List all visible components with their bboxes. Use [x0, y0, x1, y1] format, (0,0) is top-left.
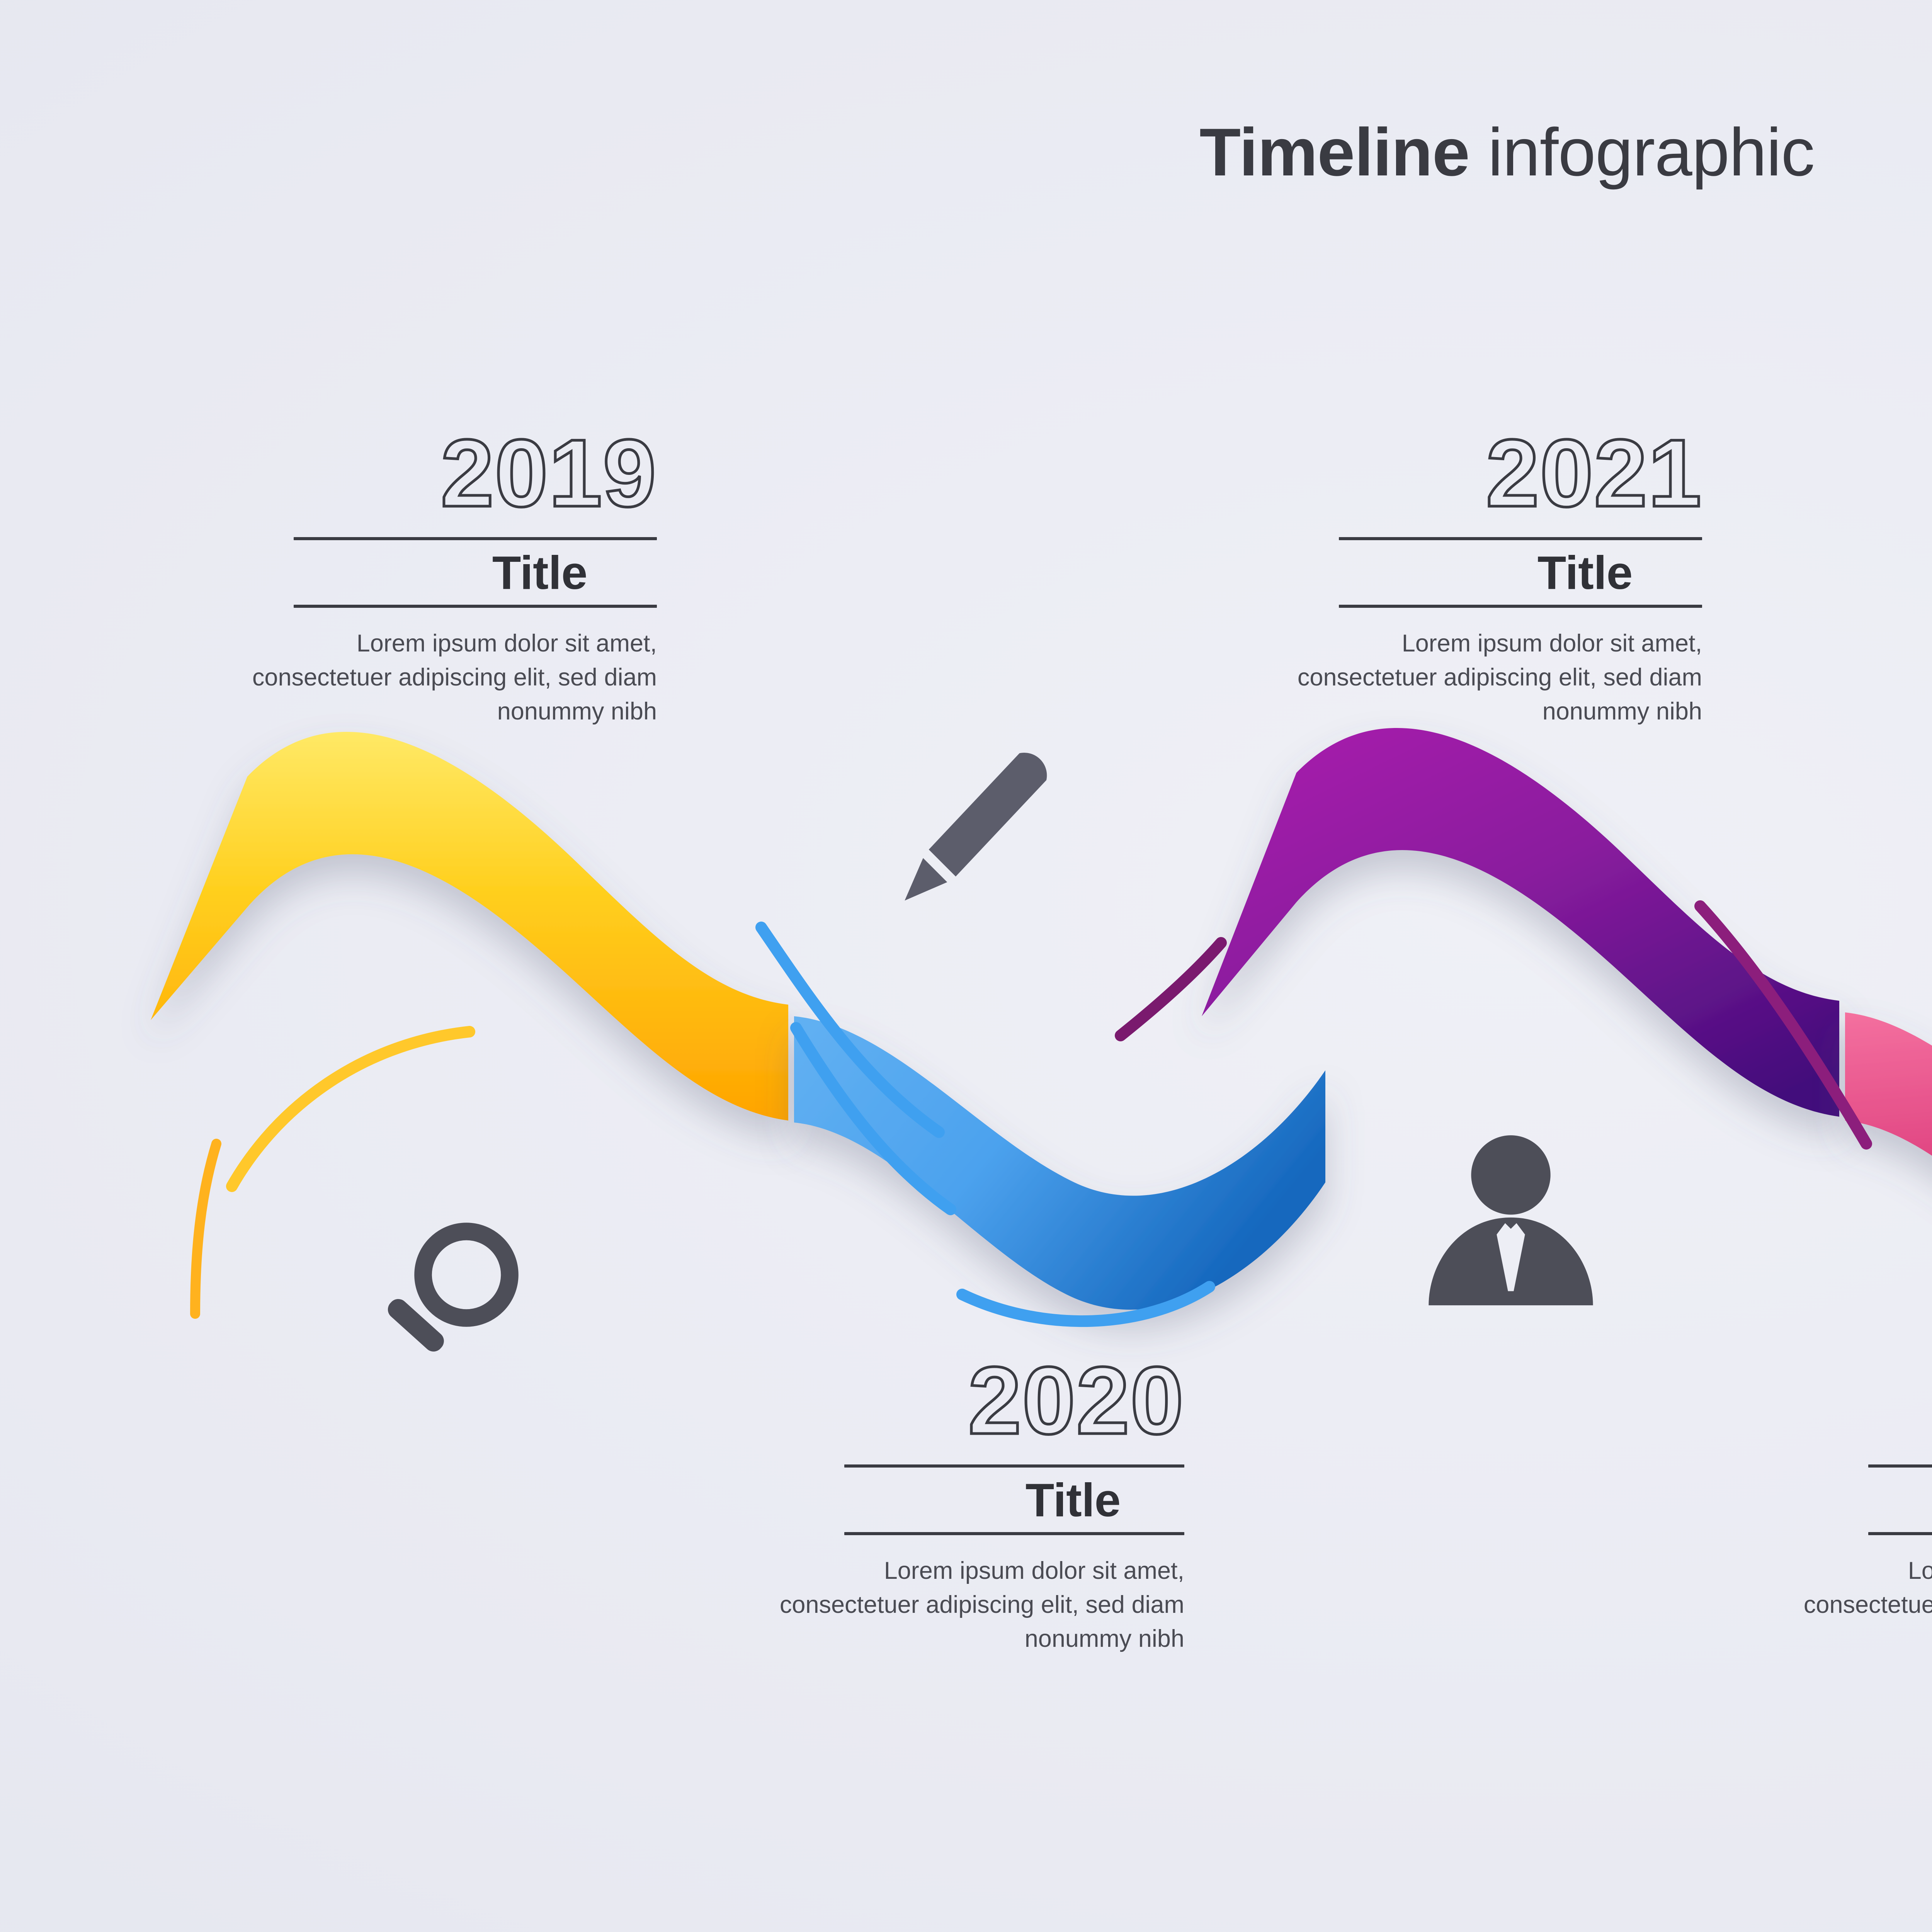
milestone-title-2020: Title — [775, 1471, 1184, 1529]
businessman-icon — [1426, 1132, 1596, 1310]
milestone-block-2021[interactable]: 2021 Title Lorem ipsum dolor sit amet, c… — [1293, 425, 1702, 728]
milestone-body-2021: Lorem ipsum dolor sit amet, consectetuer… — [1293, 626, 1702, 729]
milestone-body-2020: Lorem ipsum dolor sit amet, consectetuer… — [775, 1554, 1184, 1656]
milestone-year-2019: 2019 — [247, 425, 657, 521]
divider-top-2019 — [294, 537, 657, 540]
milestone-title-2022: Title — [1799, 1471, 1932, 1529]
pencil-icon — [885, 742, 1055, 912]
divider-bottom-2021 — [1339, 605, 1702, 608]
milestone-block-2020[interactable]: 2020 Title Lorem ipsum dolor sit amet, c… — [775, 1352, 1184, 1656]
divider-top-2022 — [1868, 1464, 1932, 1468]
infographic-canvas: Timeline infographic — [0, 0, 1932, 1932]
ribbon-segment-2022 — [1845, 1012, 1932, 1308]
ribbon-segment-2019 — [151, 732, 788, 1121]
milestone-body-2019: Lorem ipsum dolor sit amet, consectetuer… — [247, 626, 657, 729]
milestone-block-2019[interactable]: 2019 Title Lorem ipsum dolor sit amet, c… — [247, 425, 657, 728]
divider-bottom-2020 — [844, 1532, 1184, 1535]
divider-bottom-2019 — [294, 605, 657, 608]
milestone-body-2022: Lorem ipsum dolor sit amet, consectetuer… — [1799, 1554, 1932, 1656]
milestone-block-2022[interactable]: 2022 Title Lorem ipsum dolor sit amet, c… — [1799, 1352, 1932, 1656]
milestone-year-2022: 2022 — [1799, 1352, 1932, 1448]
milestone-year-2021: 2021 — [1293, 425, 1702, 521]
milestone-title-2019: Title — [247, 544, 657, 602]
milestone-year-2020: 2020 — [775, 1352, 1184, 1448]
magnifier-icon — [369, 1213, 531, 1379]
ribbon-segment-2020 — [794, 1016, 1325, 1310]
divider-top-2020 — [844, 1464, 1184, 1468]
milestone-title-2021: Title — [1293, 544, 1702, 602]
divider-top-2021 — [1339, 537, 1702, 540]
ribbon-segment-2021 — [1202, 728, 1839, 1117]
divider-bottom-2022 — [1868, 1532, 1932, 1535]
